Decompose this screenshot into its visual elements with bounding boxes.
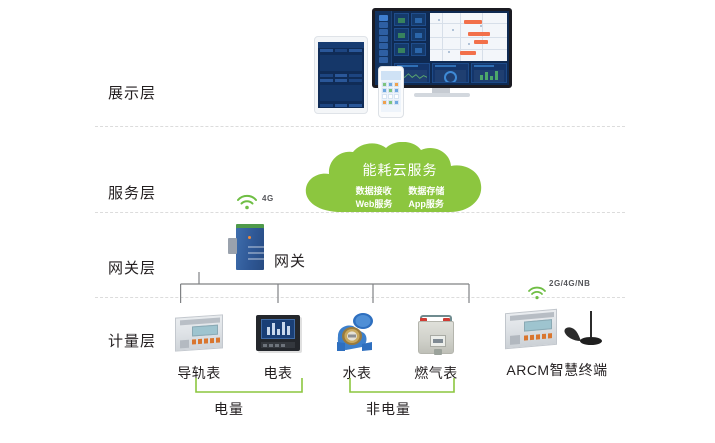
- din-rail-meter-icon: [175, 314, 223, 351]
- cloud-feature-data-storage: 数据存储: [408, 185, 444, 198]
- bracket-label-non-electric: 非电量: [366, 399, 411, 419]
- bar-chart: [474, 70, 504, 80]
- layer-label-service: 服务层: [92, 182, 172, 203]
- gateway-to-meters-connector: [180, 272, 470, 304]
- layer-label-display: 展示层: [92, 82, 172, 103]
- device-water-meter: 水表: [312, 310, 402, 383]
- gas-meter-icon: [416, 313, 456, 355]
- wifi-signal-icon: [236, 194, 258, 210]
- panel-electric-meter-icon: [256, 315, 300, 351]
- cloud-title: 能耗云服务: [363, 160, 438, 180]
- device-din-rail-meter: 导轨表: [154, 310, 244, 383]
- device-gas-meter: 燃气表: [391, 310, 481, 383]
- bracket-label-electric: 电量: [214, 399, 244, 419]
- gateway-label: 网关: [274, 250, 306, 271]
- display-layer-devices: [300, 8, 535, 123]
- arcm-terminal-icon: [505, 309, 557, 350]
- cloud-feature-web-service: Web服务: [356, 198, 393, 211]
- map-widget: [430, 13, 507, 61]
- device-electric-meter: 电表: [233, 310, 323, 383]
- smartphone-icon: [378, 66, 404, 118]
- water-meter-icon: [332, 312, 382, 356]
- wifi-signal-icon: [527, 285, 547, 300]
- category-brackets: [150, 378, 490, 396]
- gauge-chart: [444, 71, 457, 82]
- gateway-device-icon: [228, 224, 270, 272]
- cloud-feature-data-receive: 数据接收: [356, 185, 393, 198]
- antenna-icon: [561, 307, 609, 353]
- device-label-arcm-terminal: ARCM智慧终端: [487, 360, 627, 380]
- device-arcm-terminal: 2G/4G/NB ARCM智慧终端: [487, 303, 627, 380]
- layer-label-gateway: 网关层: [92, 257, 172, 278]
- arcm-wireless-label: 2G/4G/NB: [549, 279, 590, 288]
- layer-divider-1: [95, 126, 625, 127]
- gateway-node: 4G 网关: [228, 194, 348, 274]
- tablet-icon: [314, 36, 368, 114]
- cloud-feature-app-service: App服务: [408, 198, 444, 211]
- system-architecture-diagram: 展示层 服务层 网关层 计量层: [0, 0, 715, 443]
- gateway-wireless-label: 4G: [262, 194, 274, 203]
